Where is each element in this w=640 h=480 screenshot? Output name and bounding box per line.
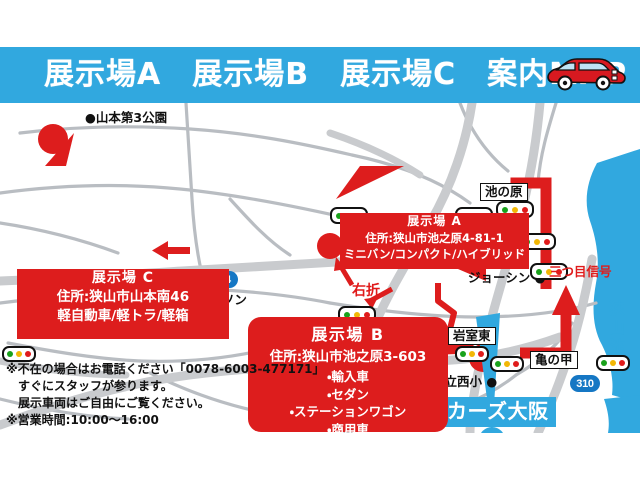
showroom-a-vehicles: ミニバン/コンパクト/ハイブリッド [340,246,529,263]
lake-shape-lower [604,395,640,433]
traffic-signal-kamenoko [596,355,630,371]
route-shield-310: 310 [570,375,600,392]
footer-notes: ※不在の場合はお電話ください「0078-6003-477171」 すぐにスタッフ… [6,361,306,429]
boxlabel-ikenohara: 池の原 [480,183,528,201]
header-banner: 展示場A 展示場B 展示場C 案内MAP [0,47,640,103]
map-flyer: 展示場A 展示場B 展示場C 案内MAP [0,0,640,480]
showroom-c-vehicles: 軽自動車/軽トラ/軽箱 [17,307,229,326]
showroom-b-heading: 展示場 B [248,317,448,347]
shop-name-label: カーズ大阪 [440,397,556,427]
red-car-icon [543,56,627,96]
showroom-a-heading: 展示場 A [340,213,529,230]
showroom-a-address: 住所:狭山市池之原4-81-1 [340,230,529,247]
showroom-c-heading: 展示場 C [17,269,229,288]
traffic-signal-iwamuro [490,356,524,372]
traffic-signal-west-edge [2,346,36,362]
label-sayamaike: 狭山池 [607,299,627,356]
footer-line-2: すぐにスタッフが参ります。 [6,378,306,395]
callout-showroom-c: 展示場 C 住所:狭山市山本南46 軽自動車/軽トラ/軽箱 [17,269,229,339]
page-title: 展示場A 展示場B 展示場C 案内MAP [44,58,627,92]
nav-arrow-top-left [152,241,190,260]
boxlabel-kamenoko: 亀の甲 [530,351,578,369]
showroom-c-address: 住所:狭山市山本南46 [17,288,229,307]
footer-line-4: ※営業時間:10:00〜16:00 [6,412,306,429]
callout-a-tail [336,166,404,199]
traffic-signal-post-office [455,346,489,362]
footer-line-3: 展示車両はご自由にご覧ください。 [6,395,306,412]
poi-yamamoto-park: ●山本第3公園 [85,111,167,125]
callout-showroom-a: 展示場 A 住所:狭山市池之原4-81-1 ミニバン/コンパクト/ハイブリッド [340,213,529,269]
annotation-usetsu: 右折 [352,280,380,300]
annotation-mitsume-shingo: 三つ目信号 [549,261,612,280]
boxlabel-iwamurohigashi: 岩室東 [448,327,496,345]
footer-line-1: ※不在の場合はお電話ください「0078-6003-477171」 [6,361,306,378]
